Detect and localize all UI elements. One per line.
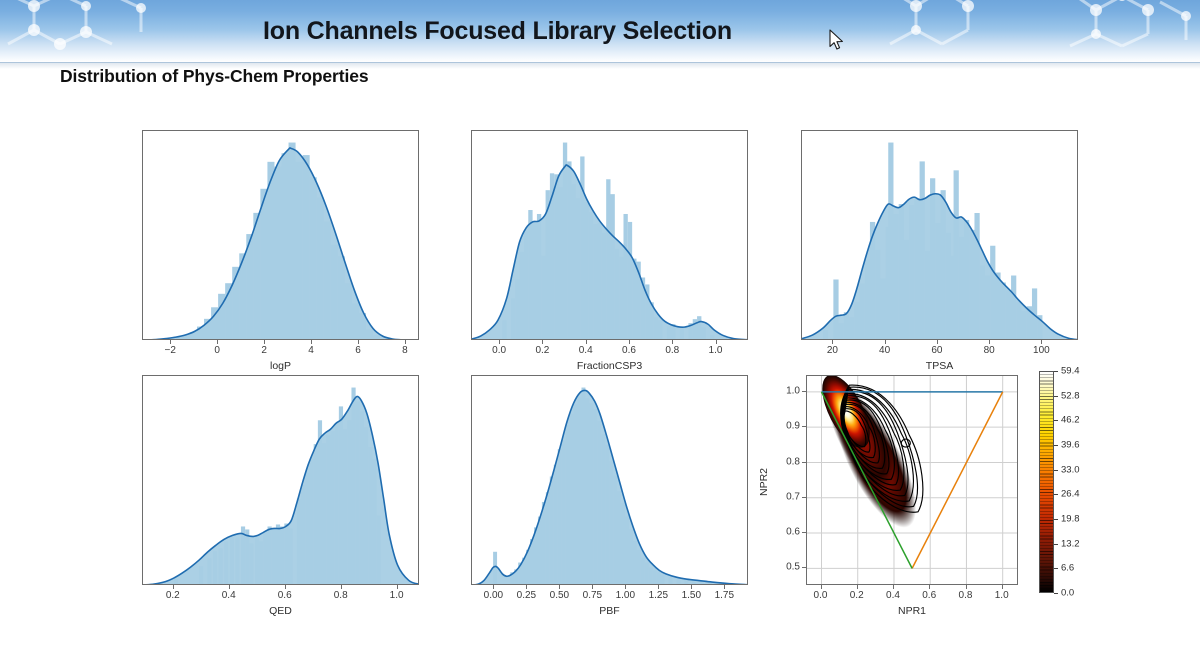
x-tick-label: 0.4 [886,590,900,601]
y-tick-label: 0.7 [786,491,800,502]
y-tick-label: 1.0 [786,385,800,396]
y-tickmarks-npr [802,375,806,585]
x-tick-label: 1.0 [995,590,1009,601]
y-tick-label: 0.8 [786,456,800,467]
x-tickmarks-npr [806,585,1018,589]
colorbar-tick-label: 46.2 [1061,415,1080,426]
page-title: Ion Channels Focused Library Selection [0,17,995,46]
y-tick-label: 0.5 [786,562,800,573]
colorbar-tick-label: 6.6 [1061,563,1074,574]
colorbar-tick-label: 26.4 [1061,489,1080,500]
triangle-line-sphere-edge [912,392,1003,569]
app-banner: Ion Channels Focused Library Selection [0,0,1200,63]
y-tick-label: 0.6 [786,527,800,538]
colorbar-tick-label: 33.0 [1061,464,1080,475]
x-ticklabels-npr: 0.00.20.40.60.81.0 [806,590,1018,604]
figure-grid: −202468logP0.00.20.40.60.81.0FractionCSP… [0,112,1200,632]
colorbar-ticks: 0.06.613.219.826.433.039.646.252.859.4 [1054,371,1109,593]
y-tick-label: 0.9 [786,421,800,432]
y-ticklabels-npr: 0.50.60.70.80.91.0 [766,375,800,585]
colorbar-tick-label: 52.8 [1061,390,1080,401]
colorbar-tick-label: 0.0 [1061,588,1074,599]
y-axis-label-npr: NPR2 [758,468,770,496]
section-heading: Distribution of Phys-Chem Properties [60,66,369,87]
x-axis-label-npr: NPR1 [806,605,1018,617]
colorbar-level-stripes [1040,372,1053,592]
x-tick-label: 0.6 [922,590,936,601]
colorbar-tick-label: 13.2 [1061,538,1080,549]
x-tick-label: 0.8 [959,590,973,601]
x-tick-label: 0.2 [850,590,864,601]
axes-npr [806,375,1018,585]
colorbar-tick-label: 59.4 [1061,366,1080,377]
colorbar-tick-label: 39.6 [1061,440,1080,451]
plot-panel-npr: 0.00.20.40.60.81.0NPR10.50.60.70.80.91.0… [0,112,1200,632]
colorbar: 0.06.613.219.826.433.039.646.252.859.4 [1039,371,1109,593]
colorbar-tick-label: 19.8 [1061,514,1080,525]
mouse-cursor-icon [829,29,845,51]
x-tick-label: 0.0 [814,590,828,601]
